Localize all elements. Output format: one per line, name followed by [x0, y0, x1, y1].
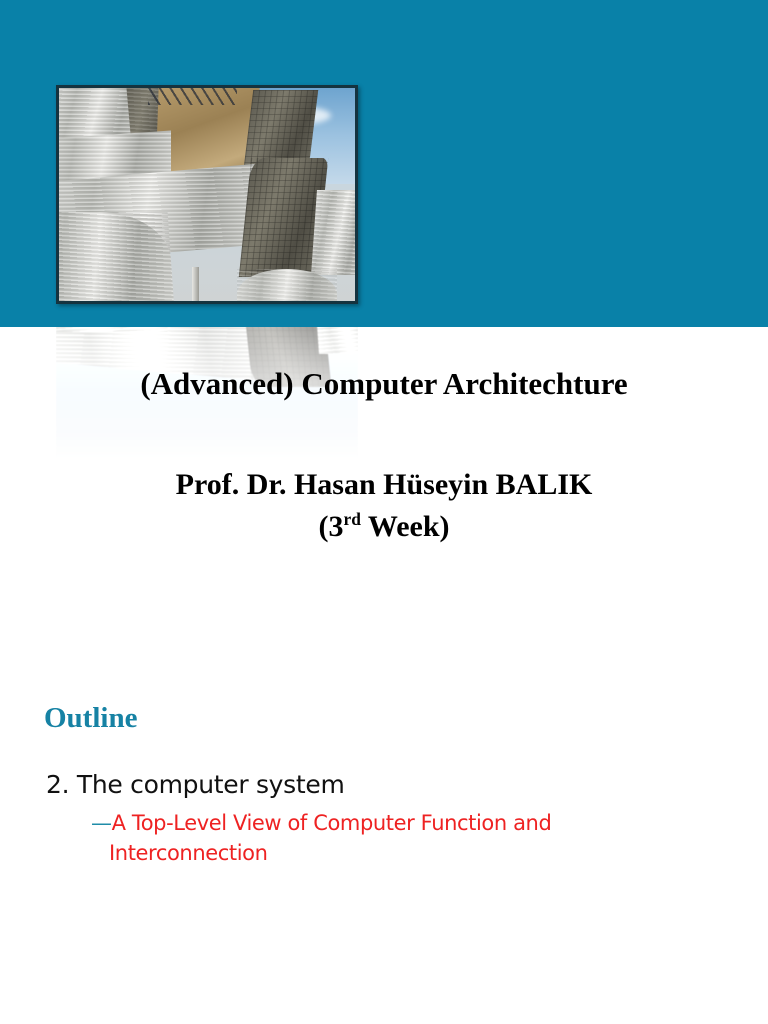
title-block: (Advanced) Computer Architechture Prof. … — [0, 362, 768, 548]
outline-item-level1: 2. The computer system — [46, 768, 746, 802]
pole — [192, 267, 199, 301]
dash-marker-icon: — — [91, 811, 112, 835]
titanium-panel — [311, 190, 355, 275]
title-spacer — [0, 406, 768, 464]
week-label: (3rd Week) — [0, 506, 768, 548]
outline-item-level2: —A Top-Level View of Computer Function a… — [91, 808, 699, 868]
photo-content — [59, 88, 355, 301]
week-prefix: (3 — [318, 510, 343, 543]
outline-heading: Outline — [44, 702, 137, 735]
outline-list: 2. The computer system —A Top-Level View… — [46, 768, 746, 868]
course-title: (Advanced) Computer Architechture — [0, 362, 768, 406]
titanium-panel-curve — [59, 212, 175, 301]
outline-item-level2-label: A Top-Level View of Computer Function an… — [109, 811, 551, 865]
guggenheim-bilbao-photo — [56, 85, 358, 304]
week-suffix: Week) — [361, 510, 450, 543]
titanium-dome — [237, 269, 338, 301]
presentation-slide: (Advanced) Computer Architechture Prof. … — [0, 0, 768, 1024]
presenter-name: Prof. Dr. Hasan Hüseyin BALIK — [0, 464, 768, 506]
steel-framework — [148, 88, 237, 105]
week-ordinal: rd — [343, 509, 360, 529]
